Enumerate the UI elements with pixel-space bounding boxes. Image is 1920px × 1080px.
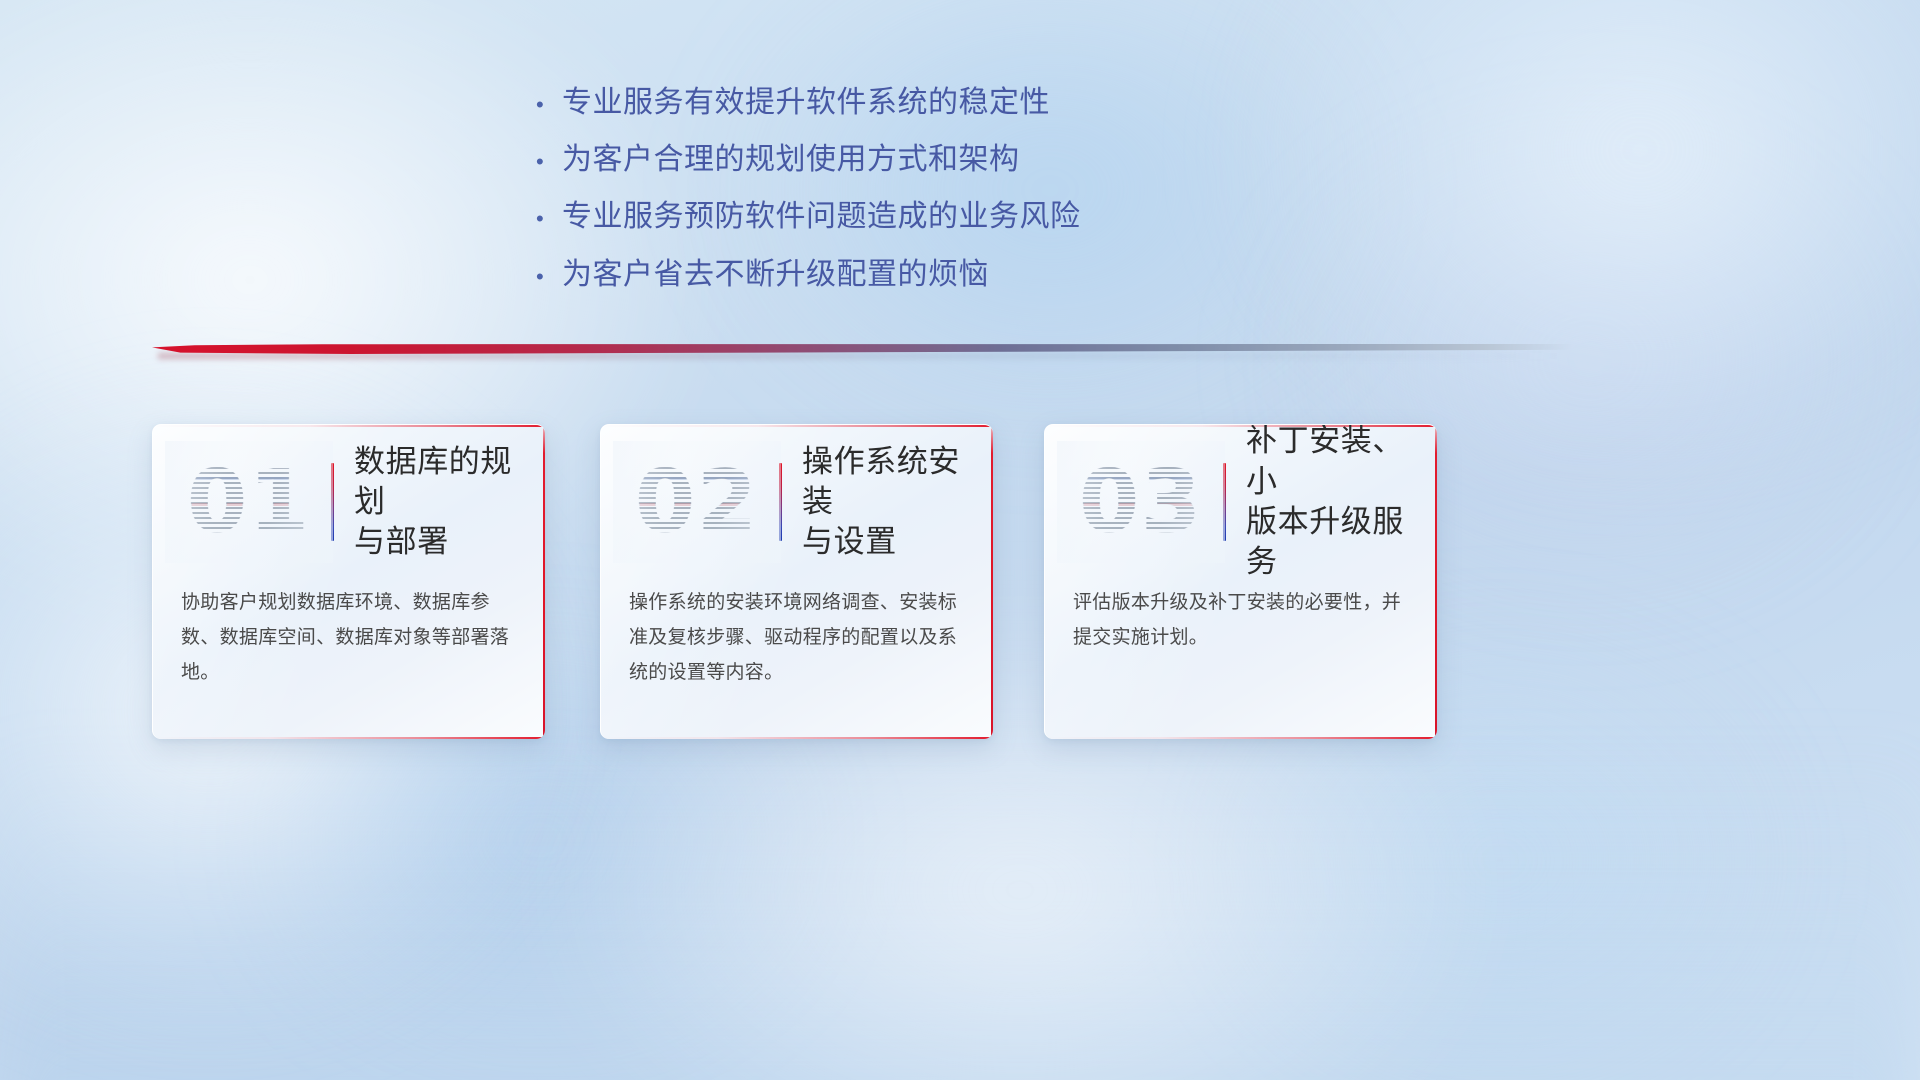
section-divider (152, 344, 1572, 362)
card-title-divider-bar (779, 463, 782, 541)
card-bottom-accent-edge (601, 737, 993, 739)
card-header: 03 03 03 补丁安装、小 版本升级服务 (1045, 443, 1437, 561)
bullet-item-4: • 为客户省去不断升级配置的烦恼 (536, 256, 1296, 293)
card-bottom-accent-edge (1045, 737, 1437, 739)
card-header: 02 02 02 操作系统安装 与设置 (601, 443, 993, 561)
card-title-line-2: 与部署 (354, 522, 533, 562)
bullet-item-2: • 为客户合理的规划使用方式和架构 (536, 141, 1296, 178)
card-title: 数据库的规划 与部署 (354, 442, 545, 563)
bullet-marker-icon: • (536, 208, 562, 230)
bullet-text-3: 专业服务预防软件问题造成的业务风险 (562, 198, 1081, 235)
card-body-text: 评估版本升级及补丁安装的必要性，并提交实施计划。 (1073, 585, 1413, 655)
bullet-marker-icon: • (536, 151, 562, 173)
service-card-3[interactable]: 03 03 03 补丁安装、小 版本升级服务 评估版本升级及补丁安装的必要性，并… (1044, 424, 1437, 739)
bullet-marker-icon: • (536, 94, 562, 116)
card-number-blue-stripes: 03 (1063, 447, 1219, 557)
card-bottom-accent-edge (153, 737, 545, 739)
service-card-row: 01 01 01 数据库的规划 与部署 协助客户规划数据库环境、数据库参数、数据… (152, 424, 1580, 746)
bullet-item-1: • 专业服务有效提升软件系统的稳定性 (536, 84, 1296, 121)
bullet-text-4: 为客户省去不断升级配置的烦恼 (562, 256, 989, 293)
card-title-divider-bar (1223, 463, 1226, 541)
bullet-text-2: 为客户合理的规划使用方式和架构 (562, 141, 1020, 178)
service-card-2[interactable]: 02 02 02 操作系统安装 与设置 操作系统的安装环境网络调查、安装标准及复… (600, 424, 993, 739)
card-title-line-2: 版本升级服务 (1246, 502, 1425, 583)
card-top-accent-edge (153, 425, 545, 427)
service-card-1[interactable]: 01 01 01 数据库的规划 与部署 协助客户规划数据库环境、数据库参数、数据… (152, 424, 545, 739)
benefits-bullet-list: • 专业服务有效提升软件系统的稳定性 • 为客户合理的规划使用方式和架构 • 专… (536, 84, 1296, 313)
card-number-badge: 01 01 01 (171, 447, 327, 557)
card-title-line-2: 与设置 (802, 522, 981, 562)
card-body-text: 协助客户规划数据库环境、数据库参数、数据库空间、数据库对象等部署落地。 (181, 585, 521, 690)
card-title-line-1: 数据库的规划 (354, 442, 533, 523)
card-number-badge: 02 02 02 (619, 447, 775, 557)
card-top-accent-edge (601, 425, 993, 427)
bullet-marker-icon: • (536, 266, 562, 288)
card-title-line-1: 操作系统安装 (802, 442, 981, 523)
bullet-text-1: 专业服务有效提升软件系统的稳定性 (562, 84, 1050, 121)
card-body-text: 操作系统的安装环境网络调查、安装标准及复核步骤、驱动程序的配置以及系统的设置等内… (629, 585, 969, 690)
card-number-blue-stripes: 01 (171, 447, 327, 557)
card-title-line-1: 补丁安装、小 (1246, 424, 1425, 502)
card-title: 操作系统安装 与设置 (802, 442, 993, 563)
card-header: 01 01 01 数据库的规划 与部署 (153, 443, 545, 561)
card-title: 补丁安装、小 版本升级服务 (1246, 424, 1437, 583)
card-title-divider-bar (331, 463, 334, 541)
card-number-blue-stripes: 02 (619, 447, 775, 557)
card-number-badge: 03 03 03 (1063, 447, 1219, 557)
bullet-item-3: • 专业服务预防软件问题造成的业务风险 (536, 198, 1296, 235)
